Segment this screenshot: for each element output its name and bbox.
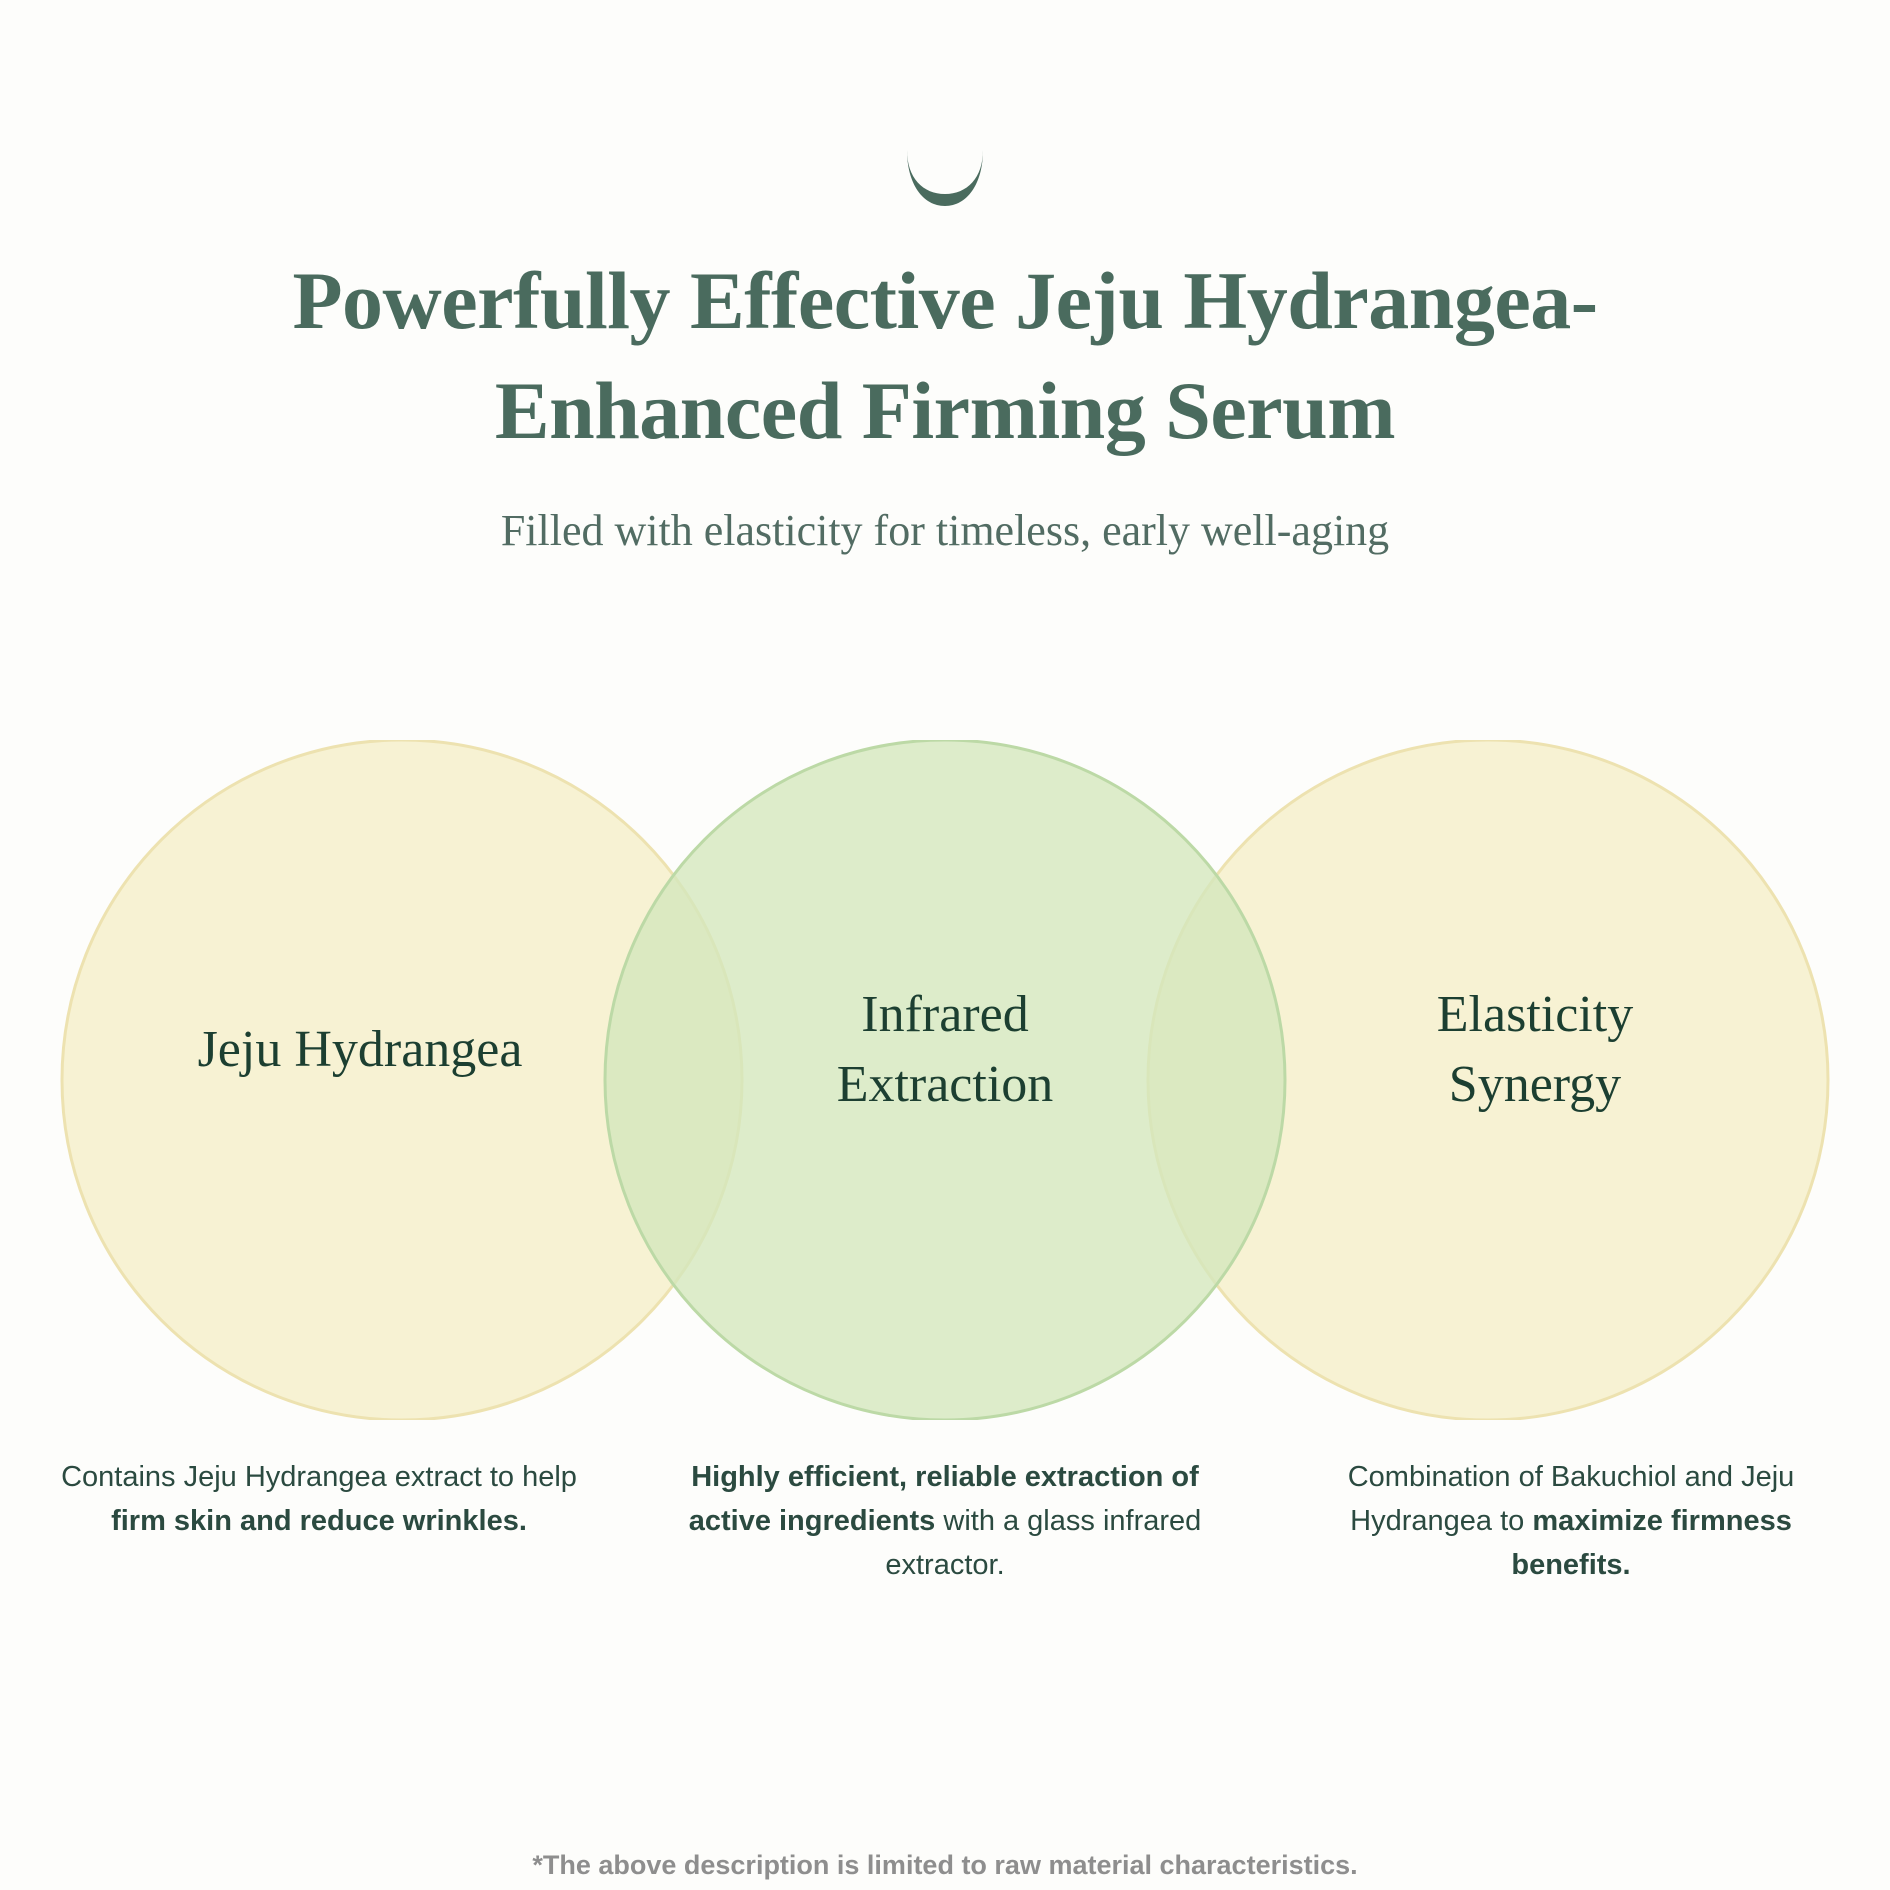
caption-emphasis: firm skin and reduce wrinkles.: [111, 1505, 527, 1537]
page-title: Powerfully Effective Jeju Hydrangea-Enha…: [245, 246, 1645, 466]
footnote: *The above description is limited to raw…: [0, 1850, 1890, 1881]
caption-text: Contains Jeju Hydrangea extract to help: [61, 1461, 577, 1493]
crescent-moon-icon: [903, 148, 987, 210]
caption-jeju-hydrangea: Contains Jeju Hydrangea extract to help …: [0, 1455, 638, 1587]
page-subtitle: Filled with elasticity for timeless, ear…: [195, 502, 1695, 559]
venn-label-infrared-extraction: Infrared Extraction: [665, 980, 1225, 1120]
caption-emphasis: maximize firmness benefits.: [1511, 1505, 1791, 1581]
infographic-page: Powerfully Effective Jeju Hydrangea-Enha…: [0, 0, 1890, 1890]
venn-diagram: Jeju Hydrangea Infrared Extraction Elast…: [0, 740, 1890, 1420]
header: Powerfully Effective Jeju Hydrangea-Enha…: [0, 0, 1890, 559]
venn-label-elasticity-synergy: Elasticity Synergy: [1255, 980, 1815, 1120]
venn-label-jeju-hydrangea: Jeju Hydrangea: [80, 1015, 640, 1085]
caption-elasticity-synergy: Combination of Bakuchiol and Jeju Hydran…: [1252, 1455, 1890, 1587]
ornament-wrap: [0, 148, 1890, 218]
caption-infrared-extraction: Highly efficient, reliable extraction of…: [638, 1455, 1252, 1587]
caption-row: Contains Jeju Hydrangea extract to help …: [0, 1455, 1890, 1587]
